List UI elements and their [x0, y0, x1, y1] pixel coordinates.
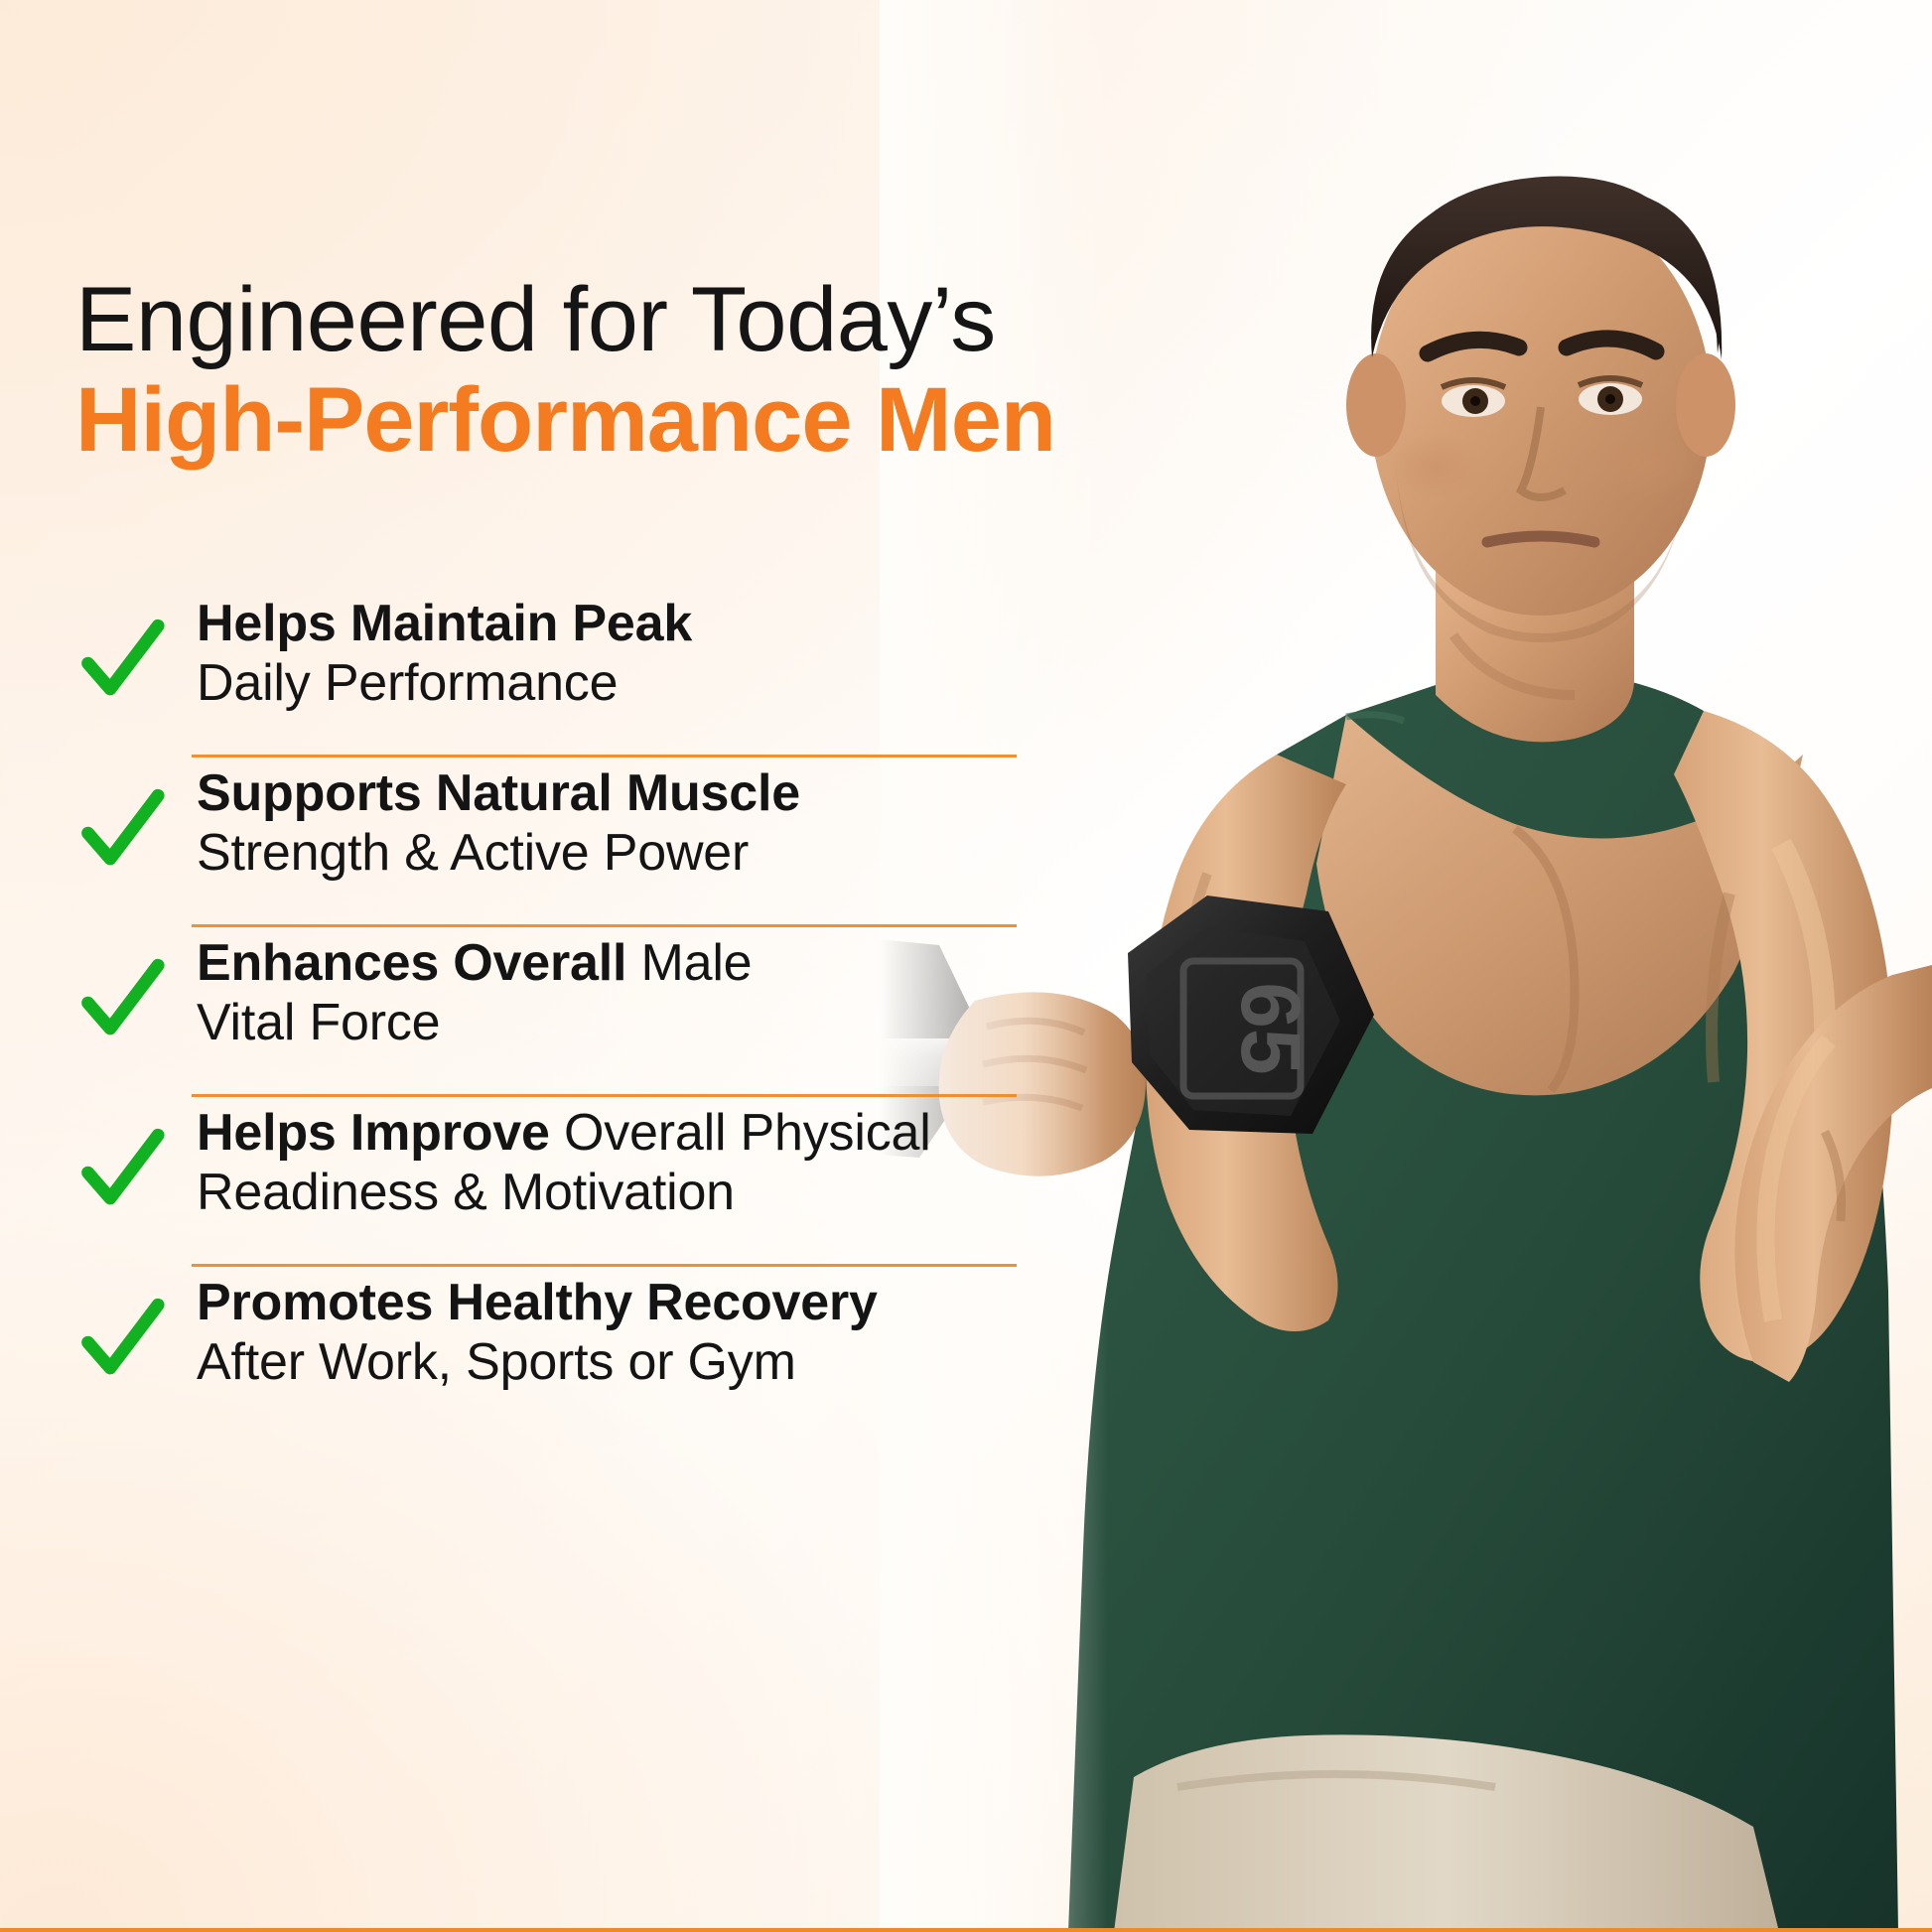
check-icon-wrap [75, 1267, 197, 1380]
benefit-line-2-normal: Strength & Active Power [197, 824, 749, 882]
benefit-line-2-normal: Readiness & Motivation [197, 1164, 735, 1221]
benefit-line-1-strong: Promotes Healthy Recovery [197, 1274, 878, 1331]
benefit-line-2: Readiness & Motivation [197, 1163, 1078, 1222]
benefit-line-1-normal: Male [626, 934, 752, 992]
benefit-line-1: Helps Improve Overall Physical [197, 1103, 1078, 1163]
benefit-line-2-normal: After Work, Sports or Gym [197, 1333, 796, 1391]
headline-line-1: Engineered for Today’s [75, 270, 1088, 370]
green-check-icon [79, 616, 165, 701]
headline-line-2: High-Performance Men [75, 370, 1088, 471]
benefit-line-1-strong: Supports Natural Muscle [197, 764, 800, 822]
check-icon-wrap [75, 1097, 197, 1210]
benefit-text: Helps Improve Overall Physical Readiness… [197, 1097, 1078, 1223]
benefit-line-1: Enhances Overall Male [197, 933, 1078, 993]
green-check-icon [79, 1125, 165, 1210]
benefit-item: Supports Natural Muscle Strength & Activ… [75, 758, 1078, 924]
green-check-icon [79, 785, 165, 871]
benefit-line-1: Helps Maintain Peak [197, 594, 1078, 653]
infographic-canvas: 65 Engineered for Today’s High-Performan… [0, 0, 1932, 1932]
benefit-line-2: Daily Performance [197, 653, 1078, 713]
bottom-accent-rule [0, 1928, 1932, 1932]
green-check-icon [79, 1295, 165, 1380]
headline-block: Engineered for Today’s High-Performance … [75, 270, 1088, 471]
benefit-text: Promotes Healthy Recovery After Work, Sp… [197, 1267, 1078, 1393]
benefit-item: Promotes Healthy Recovery After Work, Sp… [75, 1267, 1078, 1434]
benefit-text: Helps Maintain Peak Daily Performance [197, 588, 1078, 714]
benefit-line-1-normal: Overall Physical [550, 1104, 931, 1162]
benefit-line-2-normal: Daily Performance [197, 654, 618, 712]
benefit-item: Enhances Overall Male Vital Force [75, 927, 1078, 1094]
dumbbell-weight-label: 65 [1224, 982, 1317, 1074]
benefit-item: Helps Improve Overall Physical Readiness… [75, 1097, 1078, 1264]
benefit-line-2-normal: Vital Force [197, 994, 440, 1051]
benefit-line-1: Promotes Healthy Recovery [197, 1273, 1078, 1332]
benefit-line-2: After Work, Sports or Gym [197, 1332, 1078, 1392]
benefit-text: Supports Natural Muscle Strength & Activ… [197, 758, 1078, 884]
benefit-line-2: Vital Force [197, 993, 1078, 1052]
benefit-line-1: Supports Natural Muscle [197, 763, 1078, 823]
benefit-line-1-strong: Helps Maintain Peak [197, 595, 692, 652]
benefit-text: Enhances Overall Male Vital Force [197, 927, 1078, 1053]
benefit-line-1-strong: Enhances Overall [197, 934, 626, 992]
check-icon-wrap [75, 927, 197, 1040]
benefit-item: Helps Maintain Peak Daily Performance [75, 588, 1078, 755]
check-icon-wrap [75, 588, 197, 701]
check-icon-wrap [75, 758, 197, 871]
benefit-line-2: Strength & Active Power [197, 823, 1078, 883]
benefit-line-1-strong: Helps Improve [197, 1104, 550, 1162]
green-check-icon [79, 955, 165, 1040]
benefits-list: Helps Maintain Peak Daily Performance Su… [75, 588, 1078, 1434]
